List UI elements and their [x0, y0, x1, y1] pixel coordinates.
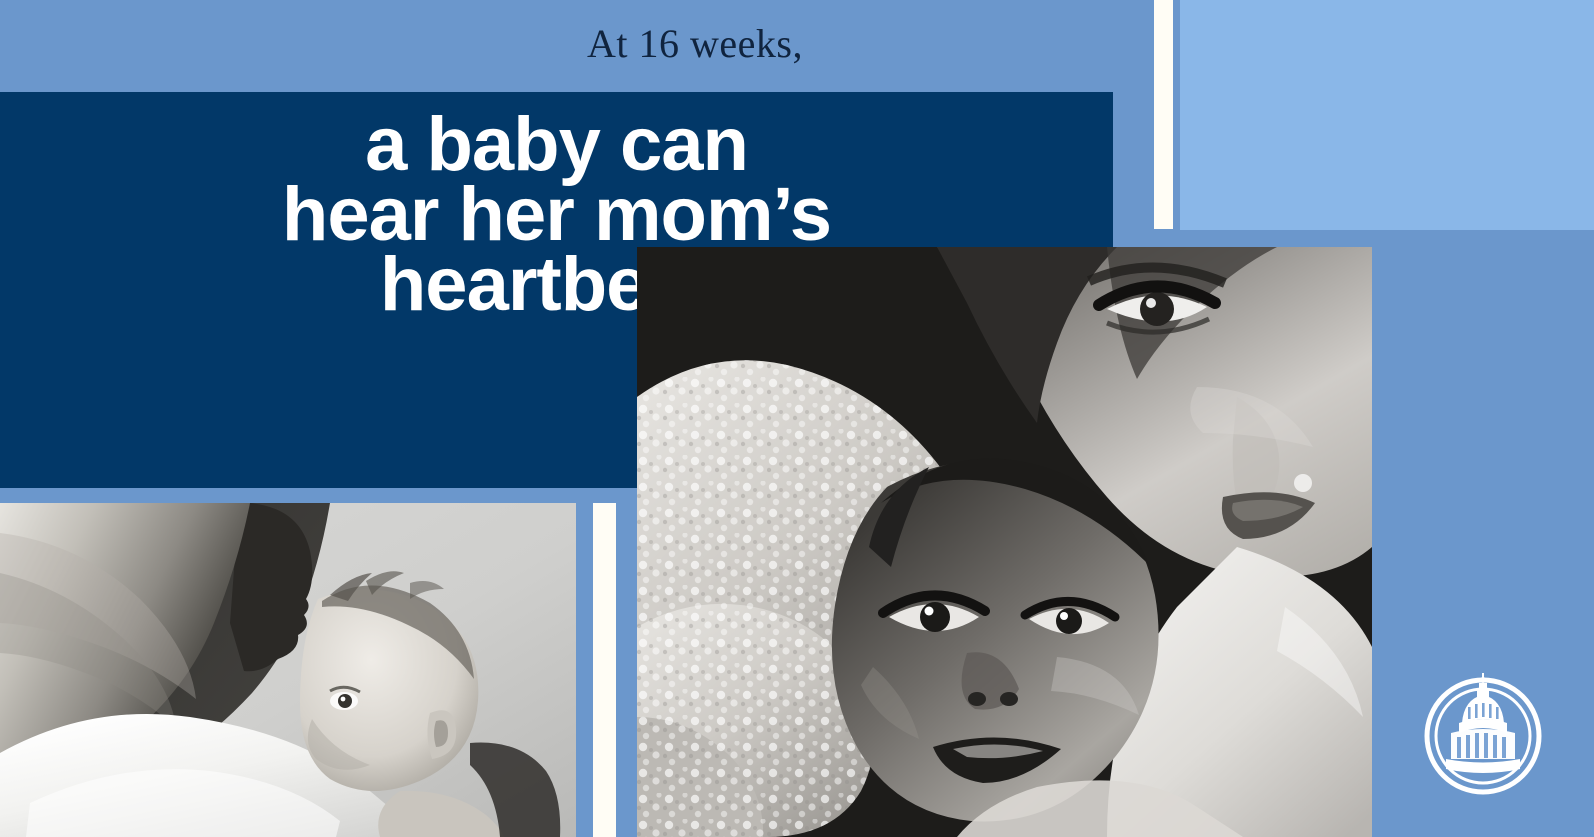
photo-mother-kissing-infant [637, 247, 1372, 837]
capitol-dome-seal-icon [1420, 673, 1546, 799]
kicker-text: At 16 weeks, [0, 20, 1390, 67]
poster-canvas: At 16 weeks, a baby can hear her mom’s h… [0, 0, 1594, 837]
white-divider-bar-center [593, 503, 616, 837]
photo-mother-and-newborn [0, 503, 576, 837]
